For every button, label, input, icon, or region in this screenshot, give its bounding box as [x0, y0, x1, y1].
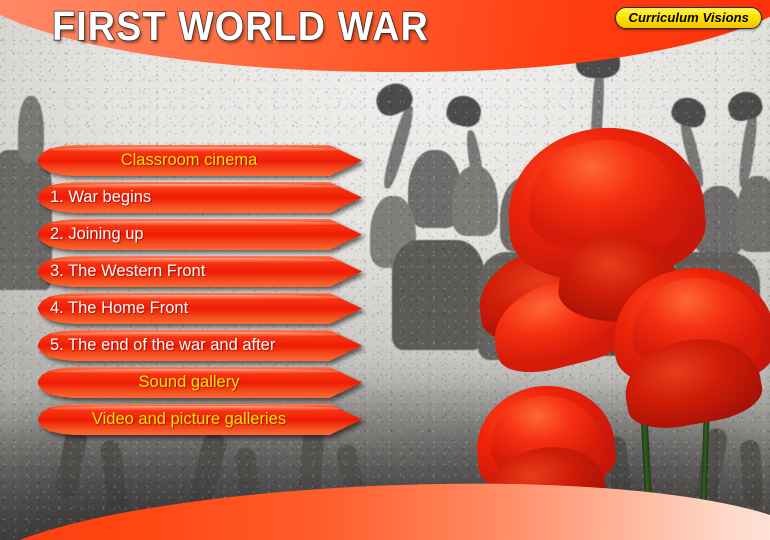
menu-item-label: Classroom cinema	[121, 152, 258, 169]
menu-item-video-picture-galleries[interactable]: Video and picture galleries	[38, 404, 362, 435]
menu-item-end-of-war[interactable]: 5. The end of the war and after	[38, 330, 362, 361]
curriculum-visions-logo[interactable]: Curriculum Visions	[615, 7, 762, 29]
menu-item-label: Sound gallery	[139, 374, 240, 391]
menu-item-label: 5. The end of the war and after	[50, 337, 275, 354]
menu-item-classroom-cinema[interactable]: Classroom cinema	[38, 145, 362, 176]
menu-item-label: 1. War begins	[50, 189, 151, 206]
menu-item-label: 2. Joining up	[50, 226, 144, 243]
menu-item-western-front[interactable]: 3. The Western Front	[38, 256, 362, 287]
menu-item-label: 3. The Western Front	[50, 263, 205, 280]
menu-item-sound-gallery[interactable]: Sound gallery	[38, 367, 362, 398]
menu-item-joining-up[interactable]: 2. Joining up	[38, 219, 362, 250]
logo-text: Curriculum Visions	[628, 10, 749, 25]
menu-item-war-begins[interactable]: 1. War begins	[38, 182, 362, 213]
menu-item-home-front[interactable]: 4. The Home Front	[38, 293, 362, 324]
page-title: FIRST WORLD WAR	[52, 6, 429, 47]
slide-root: FIRST WORLD WAR Curriculum Visions Class…	[0, 0, 770, 540]
menu-item-label: 4. The Home Front	[50, 300, 188, 317]
menu-item-label: Video and picture galleries	[92, 411, 286, 428]
chapter-menu: Classroom cinema 1. War begins 2. Joinin…	[38, 145, 362, 441]
